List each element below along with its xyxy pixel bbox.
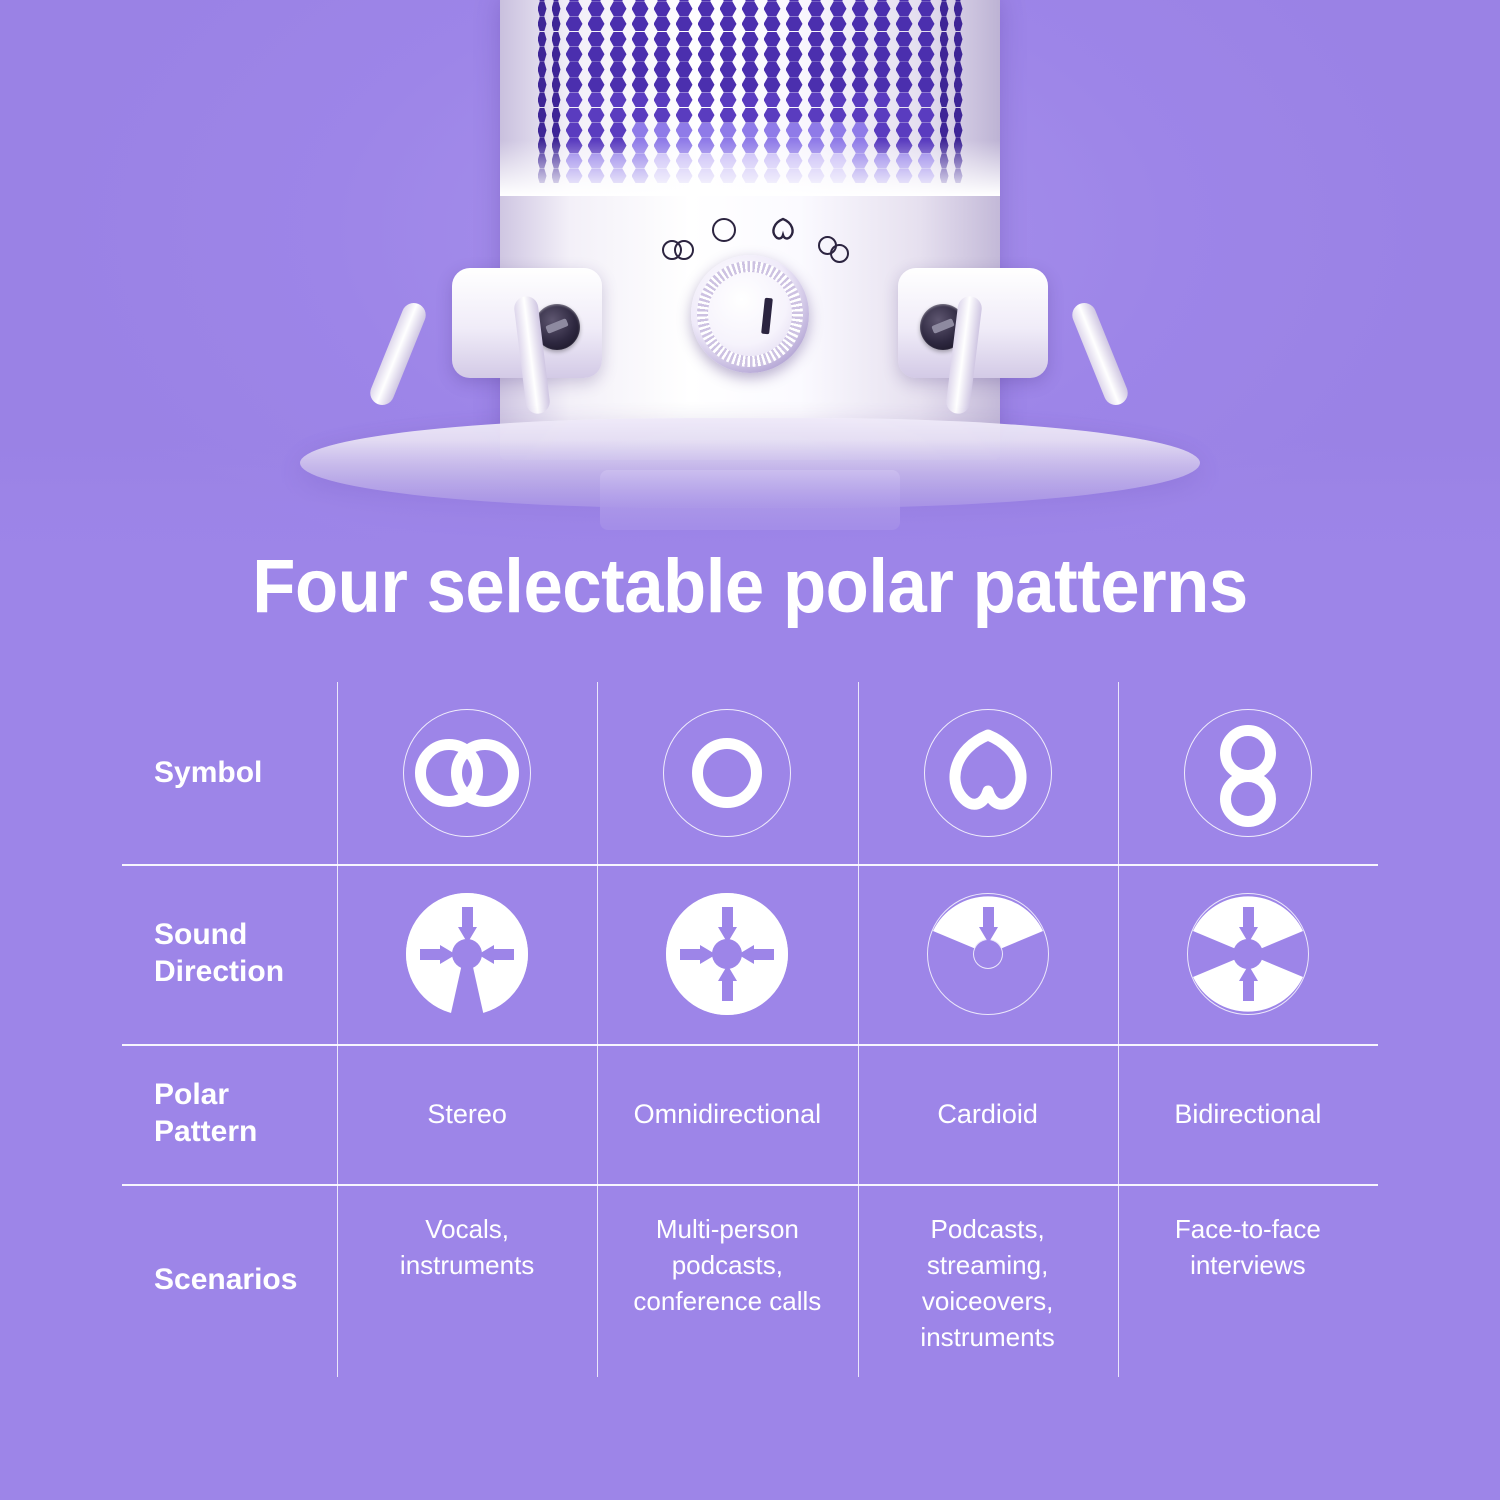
grille-hex: [940, 108, 949, 123]
scenario-line: podcasts,: [672, 1250, 783, 1280]
direction-arrows: [666, 893, 788, 1015]
grille-hex: [588, 123, 605, 138]
hero-bottom-fade: [0, 440, 1500, 545]
grille-hex: [764, 108, 781, 123]
grille-hex: [720, 108, 737, 123]
row-label-scenarios: Scenarios: [122, 1184, 337, 1377]
grille-hex: [552, 108, 561, 123]
grille-hex: [918, 77, 935, 92]
grille-hex: [566, 92, 583, 107]
sound-direction-cell-omnidirectional: [597, 864, 857, 1044]
grille-hex: [632, 123, 649, 138]
grille-hex: [552, 62, 561, 77]
grille-hex: [874, 16, 891, 31]
grille-hex: [610, 32, 627, 47]
direction-arrows: [927, 893, 1049, 1015]
grille-hex: [764, 92, 781, 107]
grille-hex: [954, 123, 963, 138]
grille-hex-row: [500, 47, 1000, 63]
grille-hex: [918, 16, 935, 31]
grille-hex: [786, 62, 803, 77]
scenarios-omnidirectional: Multi-person podcasts, conference calls: [597, 1184, 857, 1377]
grille-hex: [654, 16, 671, 31]
grille-hex: [786, 108, 803, 123]
grille-hex: [764, 1, 781, 16]
grille-hex: [632, 77, 649, 92]
grille-hex: [676, 92, 693, 107]
grille-hex: [552, 77, 561, 92]
grille-hex: [764, 16, 781, 31]
row-label-sound-direction: Sound Direction: [122, 864, 337, 1044]
grille-hex: [808, 108, 825, 123]
grille-hex-row: [500, 92, 1000, 108]
grille-hex: [786, 92, 803, 107]
grille-hex: [918, 1, 935, 16]
grille-hex: [538, 16, 547, 31]
scenario-line: instruments: [400, 1250, 534, 1280]
grille-hex: [954, 1, 963, 16]
grille-hex: [874, 92, 891, 107]
microphone-body: [500, 0, 1000, 460]
grille-hex: [940, 47, 949, 62]
grille-hex: [566, 1, 583, 16]
grille-hex: [742, 47, 759, 62]
stereo-circle-right: [451, 739, 519, 807]
grille-hex: [830, 1, 847, 16]
sound-direction-cell-cardioid: [858, 864, 1118, 1044]
bidirectional-sound-direction-icon: [1187, 893, 1309, 1015]
grille-hex: [954, 47, 963, 62]
grille-hex-row: [500, 1, 1000, 17]
grille-hex: [654, 62, 671, 77]
scenario-line: Face-to-face: [1175, 1214, 1321, 1244]
grille-hex: [538, 1, 547, 16]
grille-hex: [698, 1, 715, 16]
grille-hex: [632, 32, 649, 47]
grille-hex: [610, 108, 627, 123]
scenario-line: Multi-person: [656, 1214, 799, 1244]
symbol-cell-stereo: [337, 682, 597, 864]
grille-hex: [538, 62, 547, 77]
grille-hex: [676, 16, 693, 31]
grille-hex: [720, 123, 737, 138]
grille-hex: [896, 1, 913, 16]
grille-hex: [566, 32, 583, 47]
scenarios-bidirectional: Face-to-face interviews: [1118, 1184, 1378, 1377]
grille-hex: [764, 123, 781, 138]
grille-hex-row: [500, 108, 1000, 124]
row-label-line1: Sound: [154, 918, 247, 951]
grille-hex: [954, 92, 963, 107]
grille-hex: [720, 77, 737, 92]
grille-hex: [654, 92, 671, 107]
grille-hex: [698, 77, 715, 92]
grille-hex: [698, 108, 715, 123]
grille-hex: [852, 47, 869, 62]
grille-hex: [610, 77, 627, 92]
grille-hex: [874, 62, 891, 77]
grille-hex: [852, 1, 869, 16]
scenario-line: conference calls: [633, 1286, 821, 1316]
grille-hex: [786, 47, 803, 62]
grille-hex: [538, 77, 547, 92]
grille-hex: [896, 16, 913, 31]
grille-hex: [588, 108, 605, 123]
grille-hex: [742, 16, 759, 31]
grille-hex: [632, 47, 649, 62]
grille-hex: [676, 108, 693, 123]
engraved-cardioid-icon: [770, 217, 796, 243]
grille-hex: [940, 16, 949, 31]
engraved-bidirectional-icon-b: [830, 244, 849, 263]
grille-hex: [610, 1, 627, 16]
grille-hex: [918, 32, 935, 47]
grille-hex: [654, 1, 671, 16]
row-label-polar-pattern: Polar Pattern: [122, 1044, 337, 1184]
grille-hex: [566, 16, 583, 31]
grille-hex: [830, 108, 847, 123]
grille-hex: [698, 32, 715, 47]
grille-hex: [676, 62, 693, 77]
grille-hex: [764, 32, 781, 47]
grille-hex: [830, 92, 847, 107]
knob-face: [708, 272, 792, 356]
grille-hex: [588, 77, 605, 92]
sound-direction-cell-stereo: [337, 864, 597, 1044]
grille-hex: [566, 77, 583, 92]
bidirectional-symbol-icon: [1184, 709, 1312, 837]
omni-circle: [692, 738, 762, 808]
grille-hex: [918, 108, 935, 123]
grille-hex-row: [500, 62, 1000, 78]
grille-hex: [830, 123, 847, 138]
grille-hex: [720, 32, 737, 47]
grille-hex: [538, 123, 547, 138]
grille-hex: [874, 108, 891, 123]
grille-hex: [610, 123, 627, 138]
grille-hex: [918, 92, 935, 107]
omnidirectional-symbol-icon: [663, 709, 791, 837]
grille-hex: [896, 32, 913, 47]
grille-hex: [742, 1, 759, 16]
grille-hex: [830, 16, 847, 31]
grille-hex: [742, 77, 759, 92]
grille-hex: [808, 16, 825, 31]
grille-hex: [588, 47, 605, 62]
row-label-line2: Direction: [154, 955, 284, 988]
cardioid-heart-shape: [942, 729, 1034, 821]
grille-hex: [698, 62, 715, 77]
grille-hex: [830, 32, 847, 47]
grille-hex: [874, 1, 891, 16]
grille-hex: [720, 62, 737, 77]
engraved-omnidirectional-icon: [712, 218, 736, 242]
grille-hex: [830, 62, 847, 77]
grille-hex: [698, 92, 715, 107]
grille-hex-row: [500, 32, 1000, 48]
grille-hex: [588, 32, 605, 47]
grille-hex: [538, 47, 547, 62]
grille-hex: [632, 16, 649, 31]
grille-hex: [742, 62, 759, 77]
grille-hex: [940, 32, 949, 47]
grille-hex: [918, 62, 935, 77]
grille-hex: [954, 77, 963, 92]
grille-hex: [940, 77, 949, 92]
grille-hex: [940, 62, 949, 77]
grille-hex: [588, 16, 605, 31]
polar-pattern-bidirectional: Bidirectional: [1118, 1044, 1378, 1184]
grille-hex: [808, 62, 825, 77]
grille-hex: [654, 123, 671, 138]
grille-hex: [676, 77, 693, 92]
direction-arrows: [1187, 893, 1309, 1015]
scenarios-stereo: Vocals, instruments: [337, 1184, 597, 1377]
omnidirectional-sound-direction-icon: [666, 893, 788, 1015]
grille-hex-row: [500, 16, 1000, 32]
grille-hex: [918, 47, 935, 62]
polar-pattern-cardioid: Cardioid: [858, 1044, 1118, 1184]
polar-pattern-selector-knob[interactable]: [691, 255, 809, 373]
cardioid-symbol-icon: [924, 709, 1052, 837]
grille-hex: [764, 47, 781, 62]
figure-eight-circle-bottom: [1220, 771, 1276, 827]
grille-hex: [698, 47, 715, 62]
grille-hex: [538, 92, 547, 107]
grille-hex: [720, 16, 737, 31]
grille-hex: [786, 77, 803, 92]
grille-hex: [676, 1, 693, 16]
grille-hex: [786, 123, 803, 138]
grille-hex: [852, 108, 869, 123]
grille-hex-row: [500, 123, 1000, 139]
grille-hex: [874, 32, 891, 47]
grille-hex: [720, 1, 737, 16]
grille-hex: [808, 77, 825, 92]
polar-pattern-comparison-table: Symbol: [122, 682, 1378, 1377]
grille-hex: [874, 77, 891, 92]
grille-hex: [896, 108, 913, 123]
page-title: Four selectable polar patterns: [53, 543, 1448, 630]
grille-hex: [632, 62, 649, 77]
grille-hex: [852, 92, 869, 107]
grille-hex: [610, 16, 627, 31]
grille-hex: [742, 123, 759, 138]
grille-hex: [552, 47, 561, 62]
polar-pattern-omnidirectional: Omnidirectional: [597, 1044, 857, 1184]
grille-hex: [566, 47, 583, 62]
grille-hex: [698, 123, 715, 138]
grille-hex: [566, 62, 583, 77]
grille-hex: [742, 108, 759, 123]
grille-hex: [654, 47, 671, 62]
grille-hex: [720, 92, 737, 107]
product-photo-hero: [0, 0, 1500, 545]
grille-hex: [808, 92, 825, 107]
grille-hex: [720, 47, 737, 62]
grille-hex: [566, 123, 583, 138]
grille-hex: [654, 108, 671, 123]
knob-pointer-indicator: [761, 298, 773, 335]
symbol-cell-omnidirectional: [597, 682, 857, 864]
grille-hex: [676, 32, 693, 47]
grille-hex: [808, 47, 825, 62]
grille-hex: [742, 32, 759, 47]
grille-hex: [954, 16, 963, 31]
grille-hex: [632, 92, 649, 107]
grille-hex: [852, 32, 869, 47]
grille-hex: [552, 123, 561, 138]
grille-hex: [676, 123, 693, 138]
grille-hex: [852, 123, 869, 138]
engraved-stereo-icon-b: [674, 240, 694, 260]
grille-hex: [852, 77, 869, 92]
grille-hex: [610, 47, 627, 62]
grille-hex: [896, 77, 913, 92]
grille-hex: [896, 47, 913, 62]
cardioid-sound-direction-icon: [927, 893, 1049, 1015]
row-label-line2: Pattern: [154, 1115, 257, 1148]
scenario-line: voiceovers,: [922, 1286, 1054, 1316]
grille-hex: [830, 47, 847, 62]
direction-arrows: [406, 893, 528, 1015]
grille-hex: [654, 77, 671, 92]
grille-hex: [896, 123, 913, 138]
symbol-cell-bidirectional: [1118, 682, 1378, 864]
grille-hex: [676, 47, 693, 62]
grille-hex: [954, 32, 963, 47]
grille-hex: [764, 62, 781, 77]
grille-hex: [566, 108, 583, 123]
grille-hex: [940, 1, 949, 16]
grille-fade: [500, 140, 1000, 196]
grille-hex: [896, 62, 913, 77]
grille-hex: [896, 92, 913, 107]
grille-hex: [538, 108, 547, 123]
scenario-line: Podcasts,: [931, 1214, 1045, 1244]
grille-hex: [552, 16, 561, 31]
scenario-line: interviews: [1190, 1250, 1306, 1280]
grille-hex: [786, 1, 803, 16]
grille-hex: [764, 77, 781, 92]
scenario-line: instruments: [920, 1322, 1054, 1352]
grille-hex: [940, 92, 949, 107]
scenarios-cardioid: Podcasts, streaming, voiceovers, instrum…: [858, 1184, 1118, 1377]
grille-hex: [808, 32, 825, 47]
scenario-line: Vocals,: [425, 1214, 509, 1244]
row-label-symbol: Symbol: [122, 682, 337, 864]
grille-hex: [632, 108, 649, 123]
grille-hex: [610, 92, 627, 107]
polar-pattern-stereo: Stereo: [337, 1044, 597, 1184]
grille-hex: [874, 123, 891, 138]
grille-hex: [538, 32, 547, 47]
grille-hex: [852, 16, 869, 31]
grille-hex: [632, 1, 649, 16]
grille-hex: [786, 32, 803, 47]
grille-hex: [588, 1, 605, 16]
grille-hex: [918, 123, 935, 138]
grille-hex: [552, 1, 561, 16]
sound-direction-cell-bidirectional: [1118, 864, 1378, 1044]
symbol-cell-cardioid: [858, 682, 1118, 864]
grille-hex: [698, 16, 715, 31]
grille-hex: [552, 32, 561, 47]
grille-hex: [786, 16, 803, 31]
stereo-symbol-icon: [403, 709, 531, 837]
grille-hex: [742, 92, 759, 107]
grille-hex-row: [500, 77, 1000, 93]
grille-hex: [588, 92, 605, 107]
stereo-sound-direction-icon: [406, 893, 528, 1015]
grille-hex: [588, 62, 605, 77]
grille-hex: [552, 92, 561, 107]
grille-hex: [830, 77, 847, 92]
grille-hex: [808, 123, 825, 138]
grille-hex: [808, 1, 825, 16]
scenario-line: streaming,: [927, 1250, 1048, 1280]
grille-hex: [654, 32, 671, 47]
row-label-line1: Polar: [154, 1078, 229, 1111]
grille-hex: [852, 62, 869, 77]
grille-hex: [954, 108, 963, 123]
grille-hex: [940, 123, 949, 138]
grille-hex: [874, 47, 891, 62]
grille-hex: [954, 62, 963, 77]
grille-hex: [610, 62, 627, 77]
